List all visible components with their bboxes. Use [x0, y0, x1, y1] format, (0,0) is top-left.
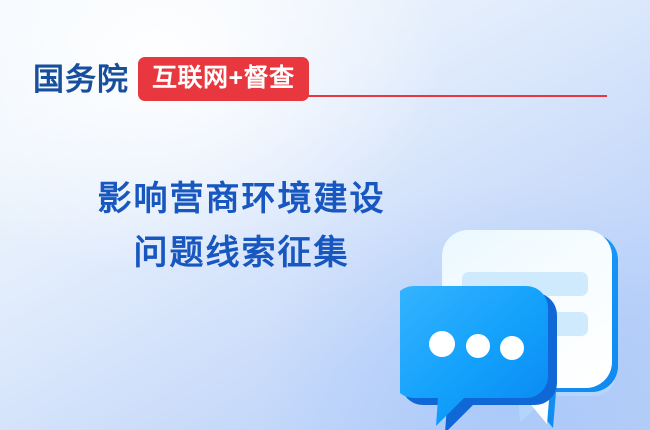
typing-dot-3 — [500, 336, 524, 360]
typing-dot-2 — [466, 334, 490, 358]
program-badge: 互联网+督查 — [138, 57, 309, 101]
typing-dot-1 — [429, 331, 455, 357]
header-divider-rule — [297, 95, 607, 97]
chat-bubbles-illustration — [400, 196, 650, 430]
organization-name: 国务院 — [33, 64, 129, 95]
banner-header: 国务院 互联网+督查 — [33, 58, 309, 100]
campaign-banner: 国务院 互联网+督查 影响营商环境建设 问题线索征集 — [0, 0, 650, 430]
